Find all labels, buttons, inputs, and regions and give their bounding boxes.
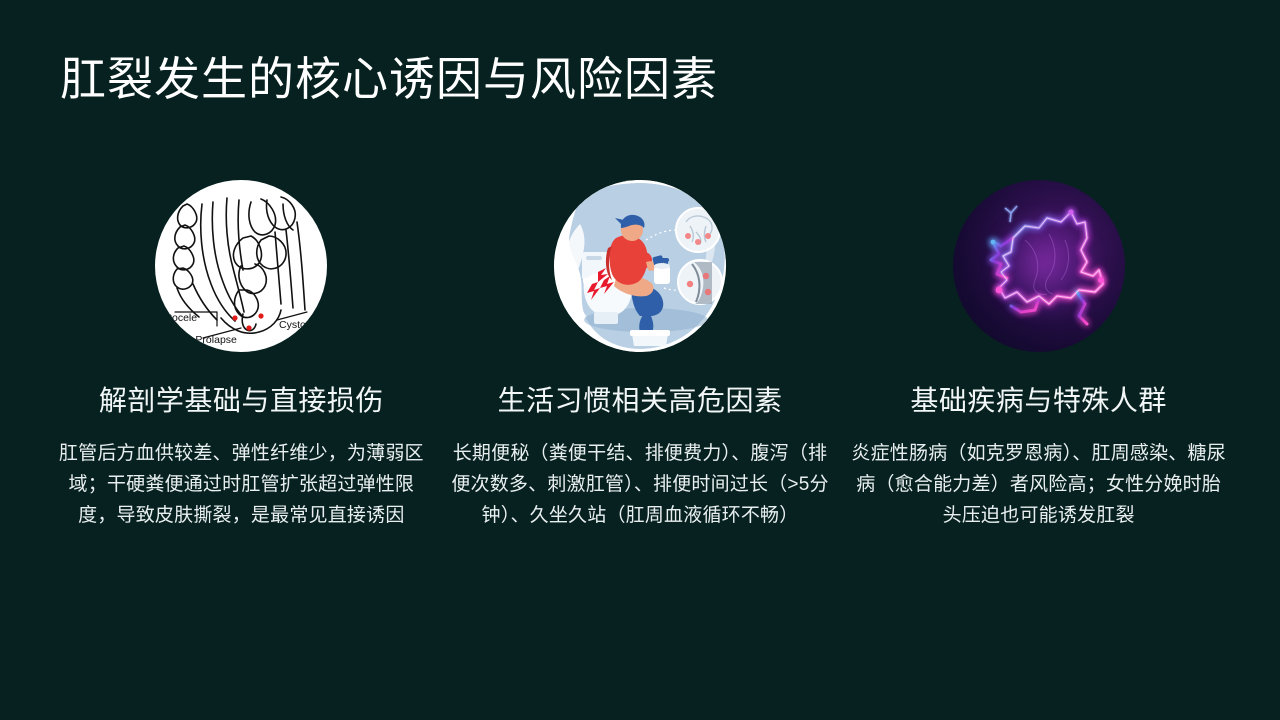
column-body-text: 炎症性肠病（如克罗恩病）、肛周感染、糖尿病（愈合能力差）者风险高；女性分娩时胎头… [848, 438, 1230, 531]
pelvic-anatomy-diagram-icon: ectocele rine Prolapse Cysto [155, 180, 327, 352]
column-body-text: 长期便秘（粪便干结、排便费力）、腹泻（排便次数多、刺激肛管）、排便时间过长（>5… [449, 438, 831, 531]
svg-text:rine Prolapse: rine Prolapse [175, 334, 237, 346]
person-on-toilet-illustration-icon [554, 180, 726, 352]
column-heading: 基础疾病与特殊人群 [910, 381, 1167, 421]
column-lifestyle: 生活习惯相关高危因素 长期便秘（粪便干结、排便费力）、腹泻（排便次数多、刺激肛管… [441, 180, 840, 531]
page-title: 肛裂发生的核心诱因与风险因素 [60, 50, 718, 108]
image-pelvic-anatomy: ectocele rine Prolapse Cysto [155, 180, 327, 352]
column-comorbidity: 基础疾病与特殊人群 炎症性肠病（如克罗恩病）、肛周感染、糖尿病（愈合能力差）者风… [839, 180, 1238, 531]
column-anatomy: ectocele rine Prolapse Cysto 解剖学基础与直接损伤 … [42, 180, 441, 531]
column-body-text: 肛管后方血供较差、弹性纤维少，为薄弱区域；干硬粪便通过时肛管扩张超过弹性限度，导… [50, 438, 432, 531]
image-person-on-toilet [554, 180, 726, 352]
column-heading: 生活习惯相关高危因素 [498, 381, 783, 421]
svg-text:ectocele: ectocele [158, 312, 197, 324]
neon-glow-abstract-icon [953, 180, 1125, 352]
columns-container: ectocele rine Prolapse Cysto 解剖学基础与直接损伤 … [0, 180, 1280, 531]
image-neon-glow [953, 180, 1125, 352]
column-heading: 解剖学基础与直接损伤 [99, 381, 384, 421]
svg-text:Cysto: Cysto [279, 319, 306, 331]
